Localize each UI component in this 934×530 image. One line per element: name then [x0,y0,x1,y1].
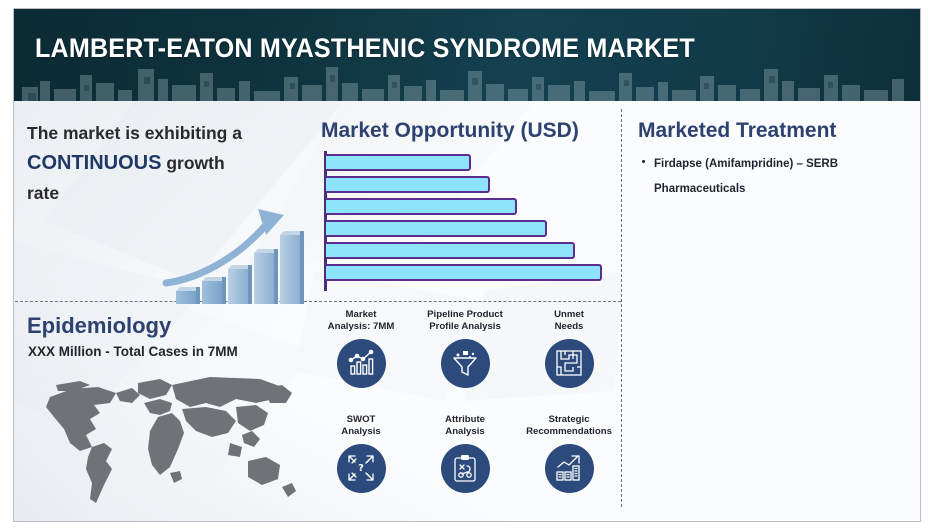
bar-5 [326,242,575,259]
icon-cell-unmet-needs[interactable]: Unmet Needs [519,309,619,388]
page-title: LAMBERT-EATON MYASTHENIC SYNDROME MARKET [35,33,695,64]
world-map-graphic [20,373,310,513]
bar-6 [326,264,602,281]
bar-chart-trend-icon [337,339,386,388]
header-banner: LAMBERT-EATON MYASTHENIC SYNDROME MARKET [14,9,921,101]
icon-label: Unmet Needs [519,309,619,334]
infographic-card: LAMBERT-EATON MYASTHENIC SYNDROME MARKET… [13,8,921,522]
epidemiology-subtitle: XXX Million - Total Cases in 7MM [28,344,238,359]
epidemiology-title: Epidemiology [27,313,171,339]
growth-statement: The market is exhibiting a CONTINUOUS gr… [27,119,302,207]
icon-label: Market Analysis: 7MM [311,309,411,334]
market-opportunity-chart [324,151,614,291]
bar-4 [326,220,547,237]
growth-line-1: The market is exhibiting a [27,123,242,143]
growth-highlight: CONTINUOUS [27,152,161,174]
horizontal-divider [15,301,621,302]
growth-chart-icon [545,444,594,493]
marketed-treatment-list: Firdapse (Amifampridine) – SERB Pharmace… [640,152,904,203]
funnel-icon [441,339,490,388]
growth-line-2: growth [161,153,224,173]
growth-bar-arrow-graphic [162,199,314,307]
icon-cell-pipeline-product[interactable]: Pipeline Product Profile Analysis [415,309,515,388]
icon-cell-strategic-recommendations[interactable]: Strategic Recommendations [519,414,619,493]
icon-label: Pipeline Product Profile Analysis [415,309,515,334]
growth-line-3: rate [27,183,59,203]
icon-label: Strategic Recommendations [519,414,619,439]
bar-2 [326,176,490,193]
clipboard-icon [441,444,490,493]
bar-3 [326,198,517,215]
icon-cell-attribute-analysis[interactable]: Attribute Analysis [415,414,515,493]
icon-cell-market-analysis[interactable]: Market Analysis: 7MM [311,309,411,388]
bullet-icon [642,160,645,163]
icon-cell-swot-analysis[interactable]: SWOT Analysis ? [311,414,411,493]
slide-page: LAMBERT-EATON MYASTHENIC SYNDROME MARKET… [0,0,934,530]
maze-icon [545,339,594,388]
icon-label: SWOT Analysis [311,414,411,439]
bar-1 [326,154,471,171]
swot-arrows-icon: ? [337,444,386,493]
list-item: Firdapse (Amifampridine) – SERB Pharmace… [640,152,904,203]
analysis-icon-grid: Market Analysis: 7MM Pipeline Product Pr… [311,309,619,514]
marketed-treatment-title: Marketed Treatment [638,119,836,143]
body-area: The market is exhibiting a CONTINUOUS gr… [14,101,921,522]
icon-label: Attribute Analysis [415,414,515,439]
vertical-divider [621,109,622,507]
chart-title: Market Opportunity (USD) [321,119,579,143]
list-item-label: Firdapse (Amifampridine) – SERB Pharmace… [654,158,838,195]
svg-text:?: ? [358,463,364,474]
